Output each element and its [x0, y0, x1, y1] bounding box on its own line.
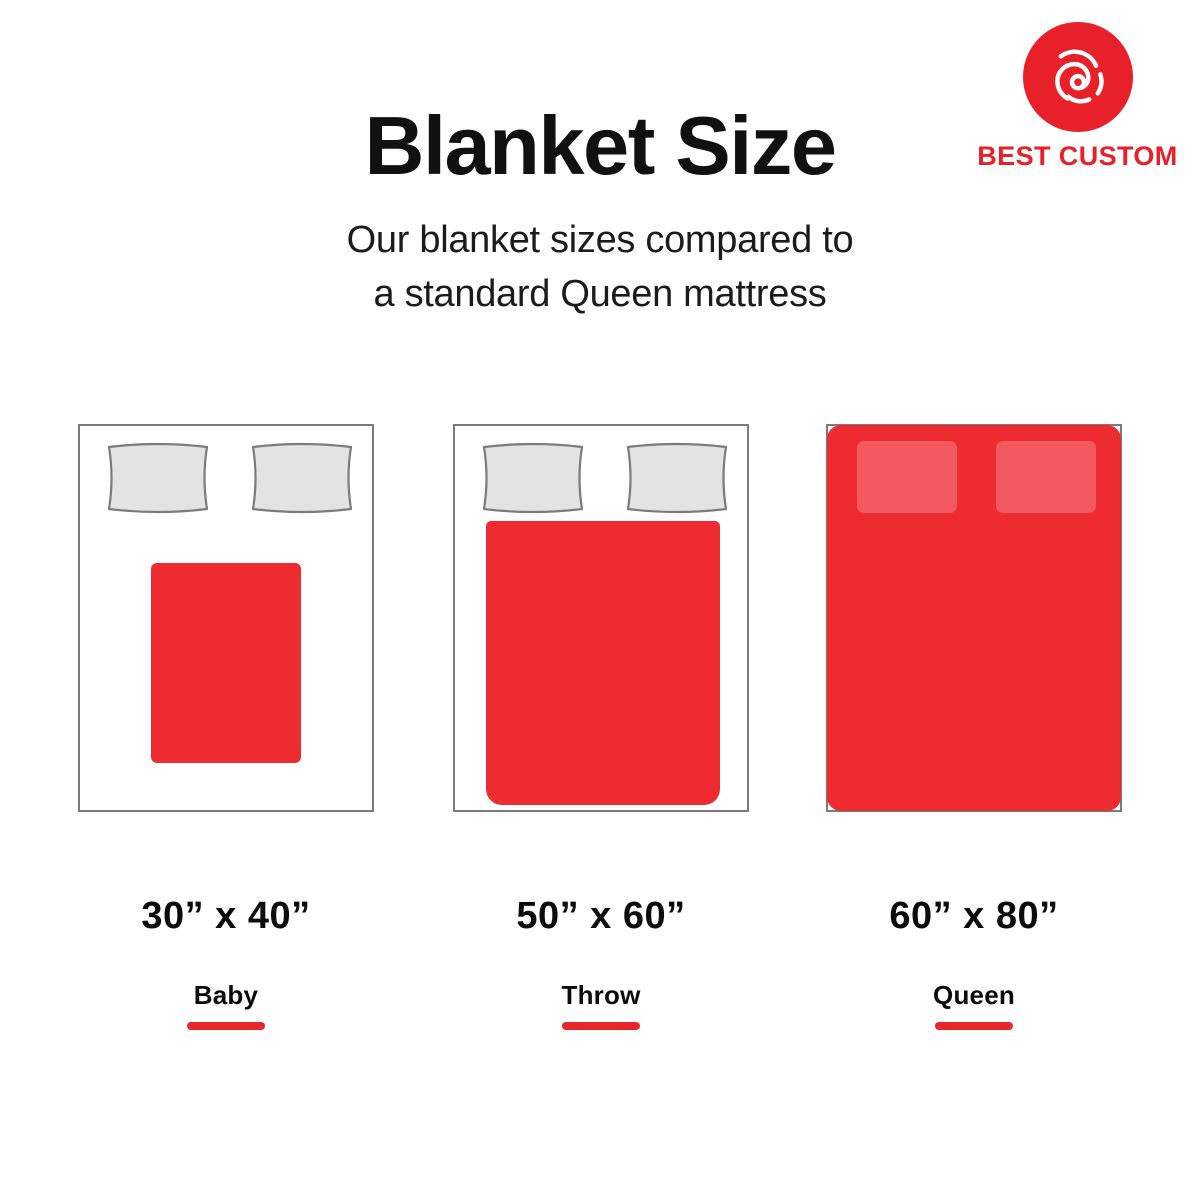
- subtitle-line-2: a standard Queen mattress: [0, 268, 1200, 322]
- bed-diagram-queen: [826, 424, 1122, 812]
- blanket-shape-throw: [486, 521, 720, 805]
- size-name-baby: Baby: [66, 980, 386, 1011]
- blanket-shape-baby: [151, 563, 301, 763]
- underline-rule-throw: [562, 1022, 640, 1030]
- caption-baby: 30” x 40” Baby: [66, 895, 386, 1030]
- bed-diagram-baby: [78, 424, 374, 812]
- size-name-queen: Queen: [814, 980, 1134, 1011]
- blanket-shape-queen: [827, 425, 1121, 811]
- bed-diagrams: [0, 424, 1200, 814]
- pillow-icon-right-baby: [248, 440, 356, 516]
- pillow-icon-left-throw: [479, 440, 587, 516]
- underline-rule-baby: [187, 1022, 265, 1030]
- page-subtitle: Our blanket sizes compared to a standard…: [0, 214, 1200, 322]
- underline-rule-queen: [935, 1022, 1013, 1030]
- header: Blanket Size Our blanket sizes compared …: [0, 102, 1200, 322]
- dimensions-label-baby: 30” x 40”: [66, 895, 386, 938]
- size-name-throw: Throw: [441, 980, 761, 1011]
- page-title: Blanket Size: [0, 102, 1200, 190]
- dimensions-label-throw: 50” x 60”: [441, 895, 761, 938]
- pillow-icon-left-baby: [104, 440, 212, 516]
- caption-queen: 60” x 80” Queen: [814, 895, 1134, 1030]
- pillow-icon-left-queen: [857, 441, 957, 513]
- pillow-icon-right-queen: [996, 441, 1096, 513]
- bed-diagram-throw: [453, 424, 749, 812]
- dimensions-label-queen: 60” x 80”: [814, 895, 1134, 938]
- caption-throw: 50” x 60” Throw: [441, 895, 761, 1030]
- pillow-icon-right-throw: [623, 440, 731, 516]
- bed-captions: 30” x 40” Baby 50” x 60” Throw 60” x 80”…: [0, 895, 1200, 1055]
- blanket-size-infographic: BEST CUSTOM Blanket Size Our blanket siz…: [0, 0, 1200, 1200]
- subtitle-line-1: Our blanket sizes compared to: [0, 214, 1200, 268]
